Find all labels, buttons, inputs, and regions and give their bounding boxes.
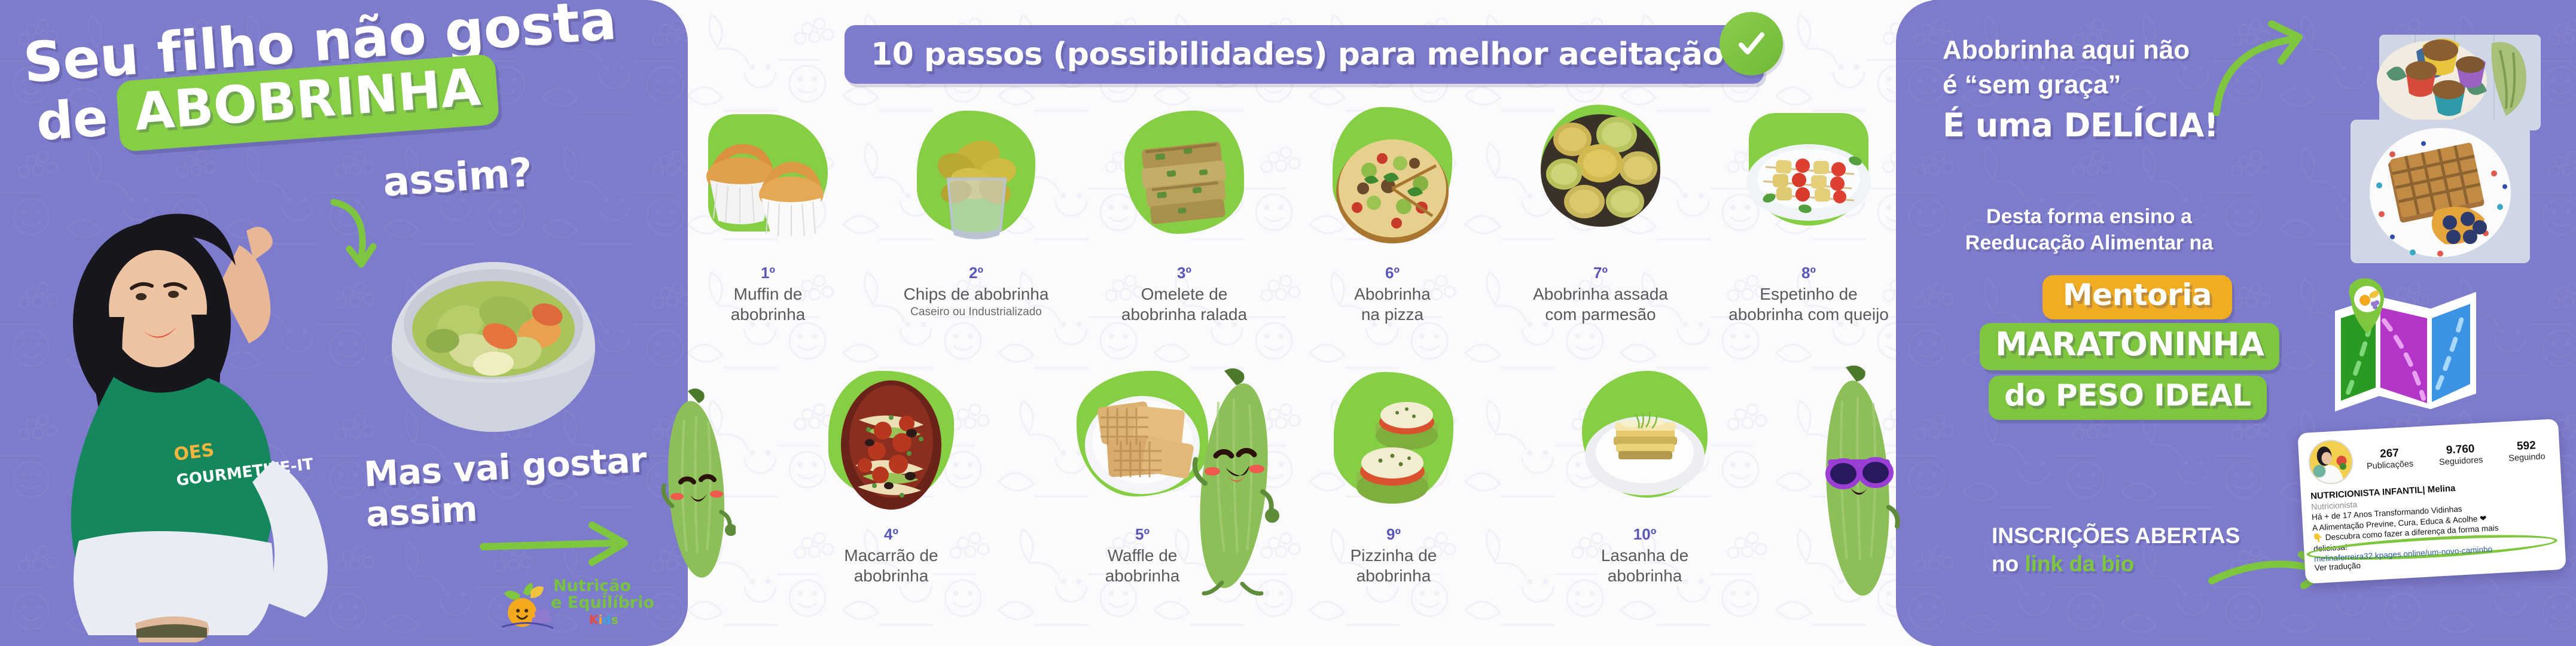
badge-mentoria-text: Mentoria [2063,278,2212,312]
instagram-header: 267 Publicações 9.760 Seguidores 592 Seg… [2307,428,2551,485]
folded-map-icon [2313,276,2493,426]
cta-line-2: no link da bio [1992,550,2240,578]
curved-arrow-up-right-icon [2208,18,2322,120]
stat-followers[interactable]: 9.760 Seguidores [2438,442,2483,467]
stat-followers-label: Seguidores [2439,455,2483,467]
stat-following[interactable]: 592 Seguindo [2508,438,2545,463]
zucchini-waffle-blueberries-photo [2351,120,2530,263]
badge-mentoria: Mentoria [2042,275,2232,319]
zucchini-muffins-plate-photo [2343,11,2541,130]
profile-avatar-graphic [2309,440,2353,484]
badge-maratoninha: MARATONINHA [1980,323,2279,370]
infographic-canvas: 10 passos (possibilidades) para melhor a… [0,0,2576,646]
cta-link-text[interactable]: link da bio [2025,551,2134,576]
instagram-profile-card[interactable]: 267 Publicações 9.760 Seguidores 592 Seg… [2297,419,2566,584]
instagram-stats: 267 Publicações 9.760 Seguidores 592 Seg… [2361,438,2551,472]
right-headline-emphasis: É uma DELÍCIA! [1943,106,2218,144]
right-content-layer: Abobrinha aqui não é “sem graça” É uma D… [0,0,2576,646]
right-headline: Abobrinha aqui não é “sem graça” [1943,33,2190,102]
cta-prefix: no [1992,551,2025,576]
badge-peso-ideal: do PESO IDEAL [1989,376,2267,420]
cta-line-1: INSCRIÇÕES ABERTAS [1992,522,2240,550]
avatar[interactable] [2307,438,2354,485]
badge-peso-ideal-text: do PESO IDEAL [2004,378,2251,413]
stat-posts: 267 Publicações [2365,446,2413,471]
cta-text: INSCRIÇÕES ABERTAS no link da bio [1992,522,2240,578]
right-subheadline: Desta forma ensino a Reeducação Alimenta… [1961,203,2218,256]
badge-maratoninha-text: MARATONINHA [1995,325,2264,363]
stat-posts-label: Publicações [2367,459,2414,471]
stat-following-label: Seguindo [2508,452,2545,463]
